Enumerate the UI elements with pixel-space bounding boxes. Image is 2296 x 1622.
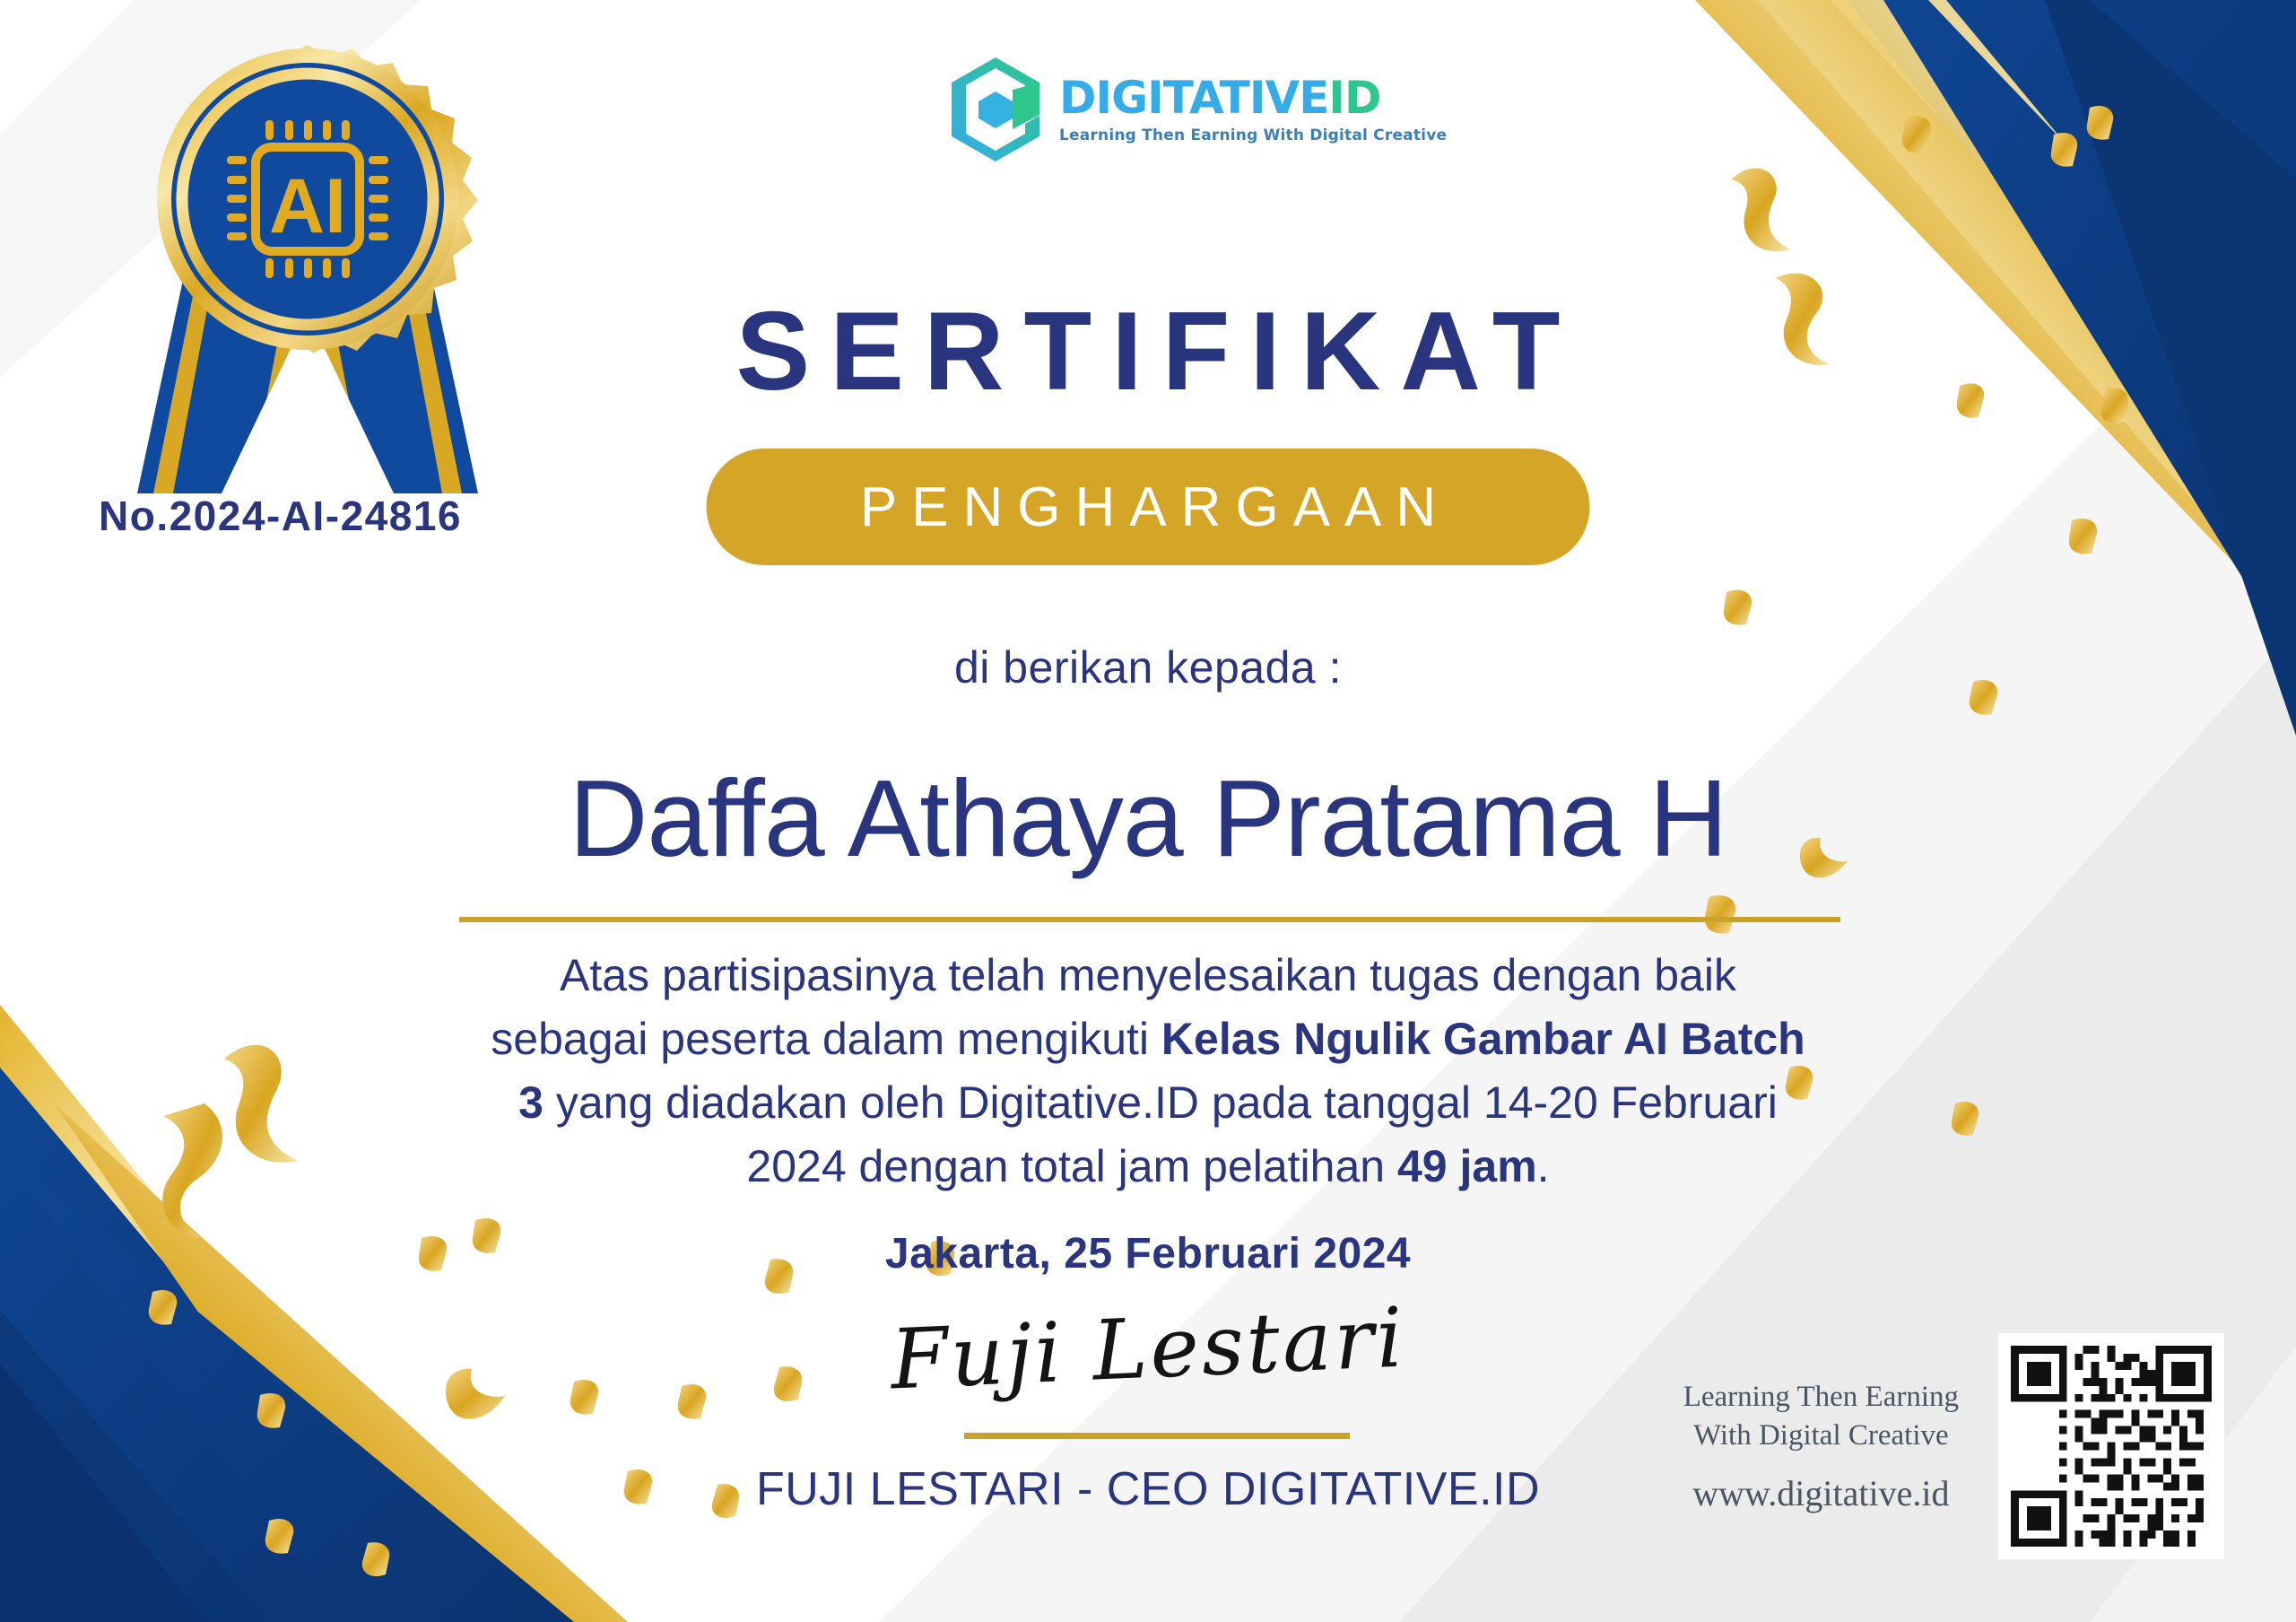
page-title: SERTIFIKAT bbox=[0, 296, 2296, 407]
certificate-body: Atas partisipasinya telah menyelesaikan … bbox=[475, 944, 1821, 1199]
digitative-logo: DIGITATIVEID Learning Then Earning With … bbox=[946, 56, 1447, 163]
logo-wordmark: DIGITATIVEID bbox=[1059, 75, 1447, 120]
qr-code-icon[interactable] bbox=[1998, 1333, 2224, 1559]
website-url: www.digitative.id bbox=[1683, 1472, 1959, 1514]
body-training-hours: 49 jam bbox=[1397, 1141, 1537, 1191]
qr-caption-line-1: Learning Then Earning bbox=[1683, 1381, 1959, 1413]
recipient-underline bbox=[459, 917, 1840, 922]
given-to-label: di berikan kepada : bbox=[0, 641, 2296, 693]
award-type-badge: PENGHARGAAN bbox=[707, 449, 1590, 565]
logo-word-primary: DIGITATIVE bbox=[1059, 72, 1328, 124]
digitative-hexagon-icon bbox=[946, 56, 1045, 163]
body-part-3: . bbox=[1537, 1141, 1550, 1191]
qr-caption: Learning Then Earning With Digital Creat… bbox=[1683, 1378, 1959, 1515]
body-part-2: yang diadakan oleh Digitative.ID pada ta… bbox=[544, 1077, 1778, 1191]
logo-word-secondary: ID bbox=[1328, 72, 1380, 124]
qr-info-block: Learning Then Earning With Digital Creat… bbox=[1683, 1333, 2224, 1559]
qr-caption-line-2: With Digital Creative bbox=[1693, 1419, 1949, 1452]
award-type-label: PENGHARGAAN bbox=[846, 475, 1450, 539]
logo-tagline: Learning Then Earning With Digital Creat… bbox=[1059, 126, 1447, 144]
signature-underline bbox=[964, 1433, 1350, 1439]
recipient-name: Daffa Athaya Pratama H bbox=[0, 758, 2296, 878]
certificate-page: AI bbox=[0, 0, 2296, 1622]
certificate-number: No.2024-AI-24816 bbox=[99, 492, 462, 540]
